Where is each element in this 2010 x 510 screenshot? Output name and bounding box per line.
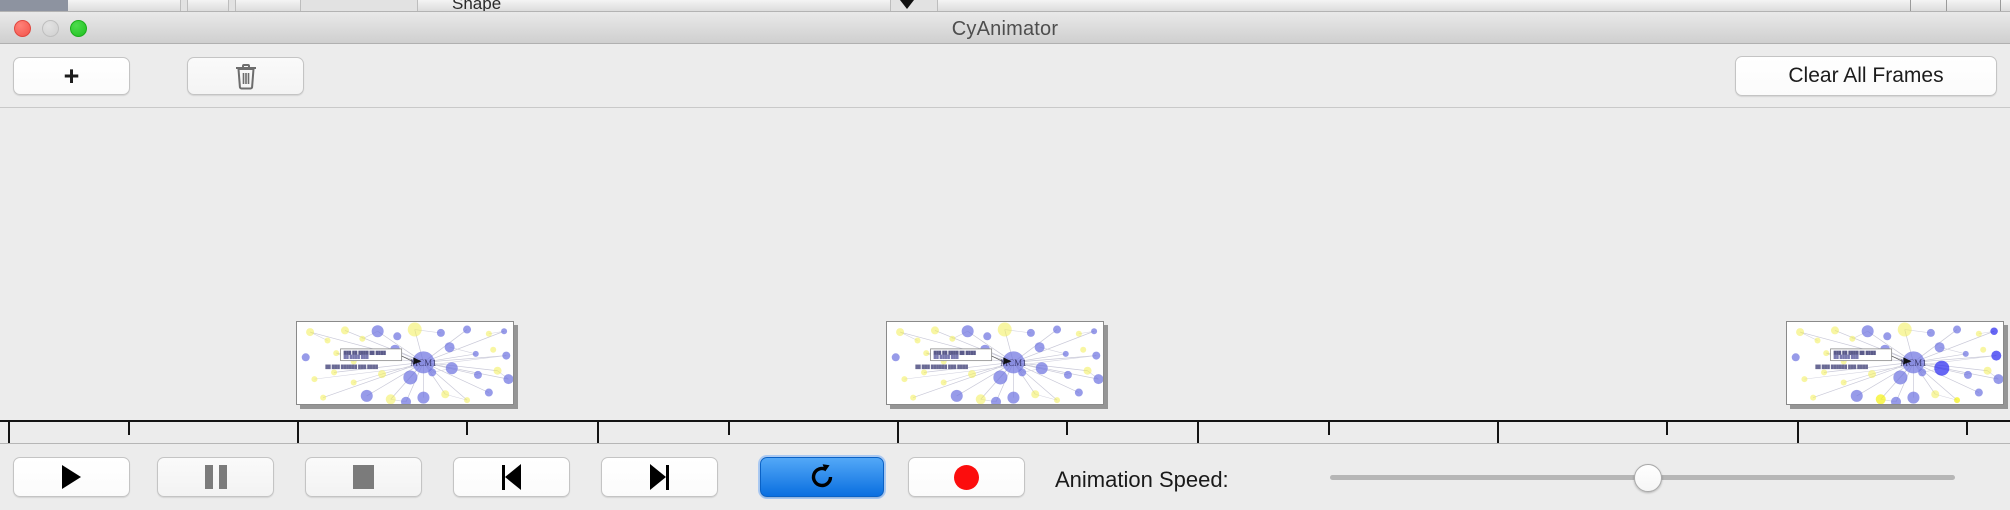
- frame-toolbar: + Clear All Frames: [0, 44, 2010, 108]
- axis-tick: [1797, 422, 1799, 444]
- axis-tick: [1066, 422, 1068, 435]
- animation-speed-slider-thumb[interactable]: [1634, 464, 1662, 492]
- axis-tick: [1497, 422, 1499, 444]
- skip-backward-icon: [502, 464, 521, 490]
- cyanimator-window: Shape CyAnimator +: [0, 0, 2010, 510]
- axis-tick: [297, 422, 299, 444]
- background-divider: [228, 0, 236, 12]
- record-icon: [954, 465, 979, 490]
- frame-thumbnail-2[interactable]: MCM1███ ██ ████ ██ ██████ ████ █████ ███…: [886, 321, 1104, 405]
- axis-baseline: [0, 420, 2010, 422]
- pause-icon: [205, 465, 227, 489]
- axis-tick: [897, 422, 899, 444]
- timeline-panel[interactable]: MCM1███ ██ ████ ██ ██████ ████ █████ ███…: [0, 108, 2010, 403]
- axis-tick: [8, 422, 10, 444]
- axis-tick: [1666, 422, 1668, 435]
- background-divider: [2000, 0, 2001, 12]
- axis-tick: [128, 422, 130, 435]
- add-frame-button[interactable]: +: [13, 57, 130, 95]
- clear-all-frames-label: Clear All Frames: [1788, 64, 1943, 88]
- background-divider: [180, 0, 188, 12]
- frame-thumbnail-3[interactable]: MCM1███ ██ ████ ██ ██████ ████ █████ ███…: [1786, 321, 2004, 405]
- background-caret-icon: [900, 0, 914, 9]
- play-icon: [62, 465, 81, 489]
- delete-frame-button[interactable]: [187, 57, 304, 95]
- frame-thumbnail-1[interactable]: MCM1███ ██ ████ ██ ██████ ████ █████ ███…: [296, 321, 514, 405]
- title-bar[interactable]: CyAnimator: [0, 12, 2010, 44]
- background-active-tab: [0, 0, 68, 12]
- plus-icon: +: [64, 63, 80, 90]
- background-shape-label: Shape: [452, 0, 501, 12]
- skip-forward-icon: [650, 464, 669, 490]
- background-toolbar-segment: [890, 0, 938, 12]
- background-toolbar-segment: [300, 0, 418, 12]
- clear-all-frames-button[interactable]: Clear All Frames: [1735, 56, 1997, 96]
- animation-speed-label: Animation Speed:: [1055, 467, 1229, 493]
- skip-forward-button[interactable]: [601, 457, 718, 497]
- loop-icon: [808, 463, 836, 491]
- loop-button[interactable]: [760, 457, 884, 497]
- axis-tick: [466, 422, 468, 435]
- record-button[interactable]: [908, 457, 1025, 497]
- pause-button[interactable]: [157, 457, 274, 497]
- trash-icon: [234, 63, 258, 90]
- svg-text:██ ███ ██████ ███ ████: ██ ███ ██████ ███ ████: [325, 364, 378, 370]
- background-window-strip: Shape: [0, 0, 2010, 12]
- stop-icon: [353, 465, 374, 489]
- stop-button[interactable]: [305, 457, 422, 497]
- skip-backward-button[interactable]: [453, 457, 570, 497]
- svg-text:██ ███ ██████ ███ ████: ██ ███ ██████ ███ ████: [1815, 364, 1868, 370]
- axis-tick: [1966, 422, 1968, 435]
- window-title: CyAnimator: [0, 18, 2010, 41]
- axis-tick: [597, 422, 599, 444]
- background-divider: [1910, 0, 1911, 12]
- svg-text:██ ███ ██████ ███ ████: ██ ███ ██████ ███ ████: [915, 364, 968, 370]
- axis-tick: [1328, 422, 1330, 435]
- background-divider: [1946, 0, 1947, 12]
- playback-controls-bar: Animation Speed:: [0, 443, 2010, 510]
- axis-tick: [1197, 422, 1199, 444]
- axis-tick: [728, 422, 730, 435]
- play-button[interactable]: [13, 457, 130, 497]
